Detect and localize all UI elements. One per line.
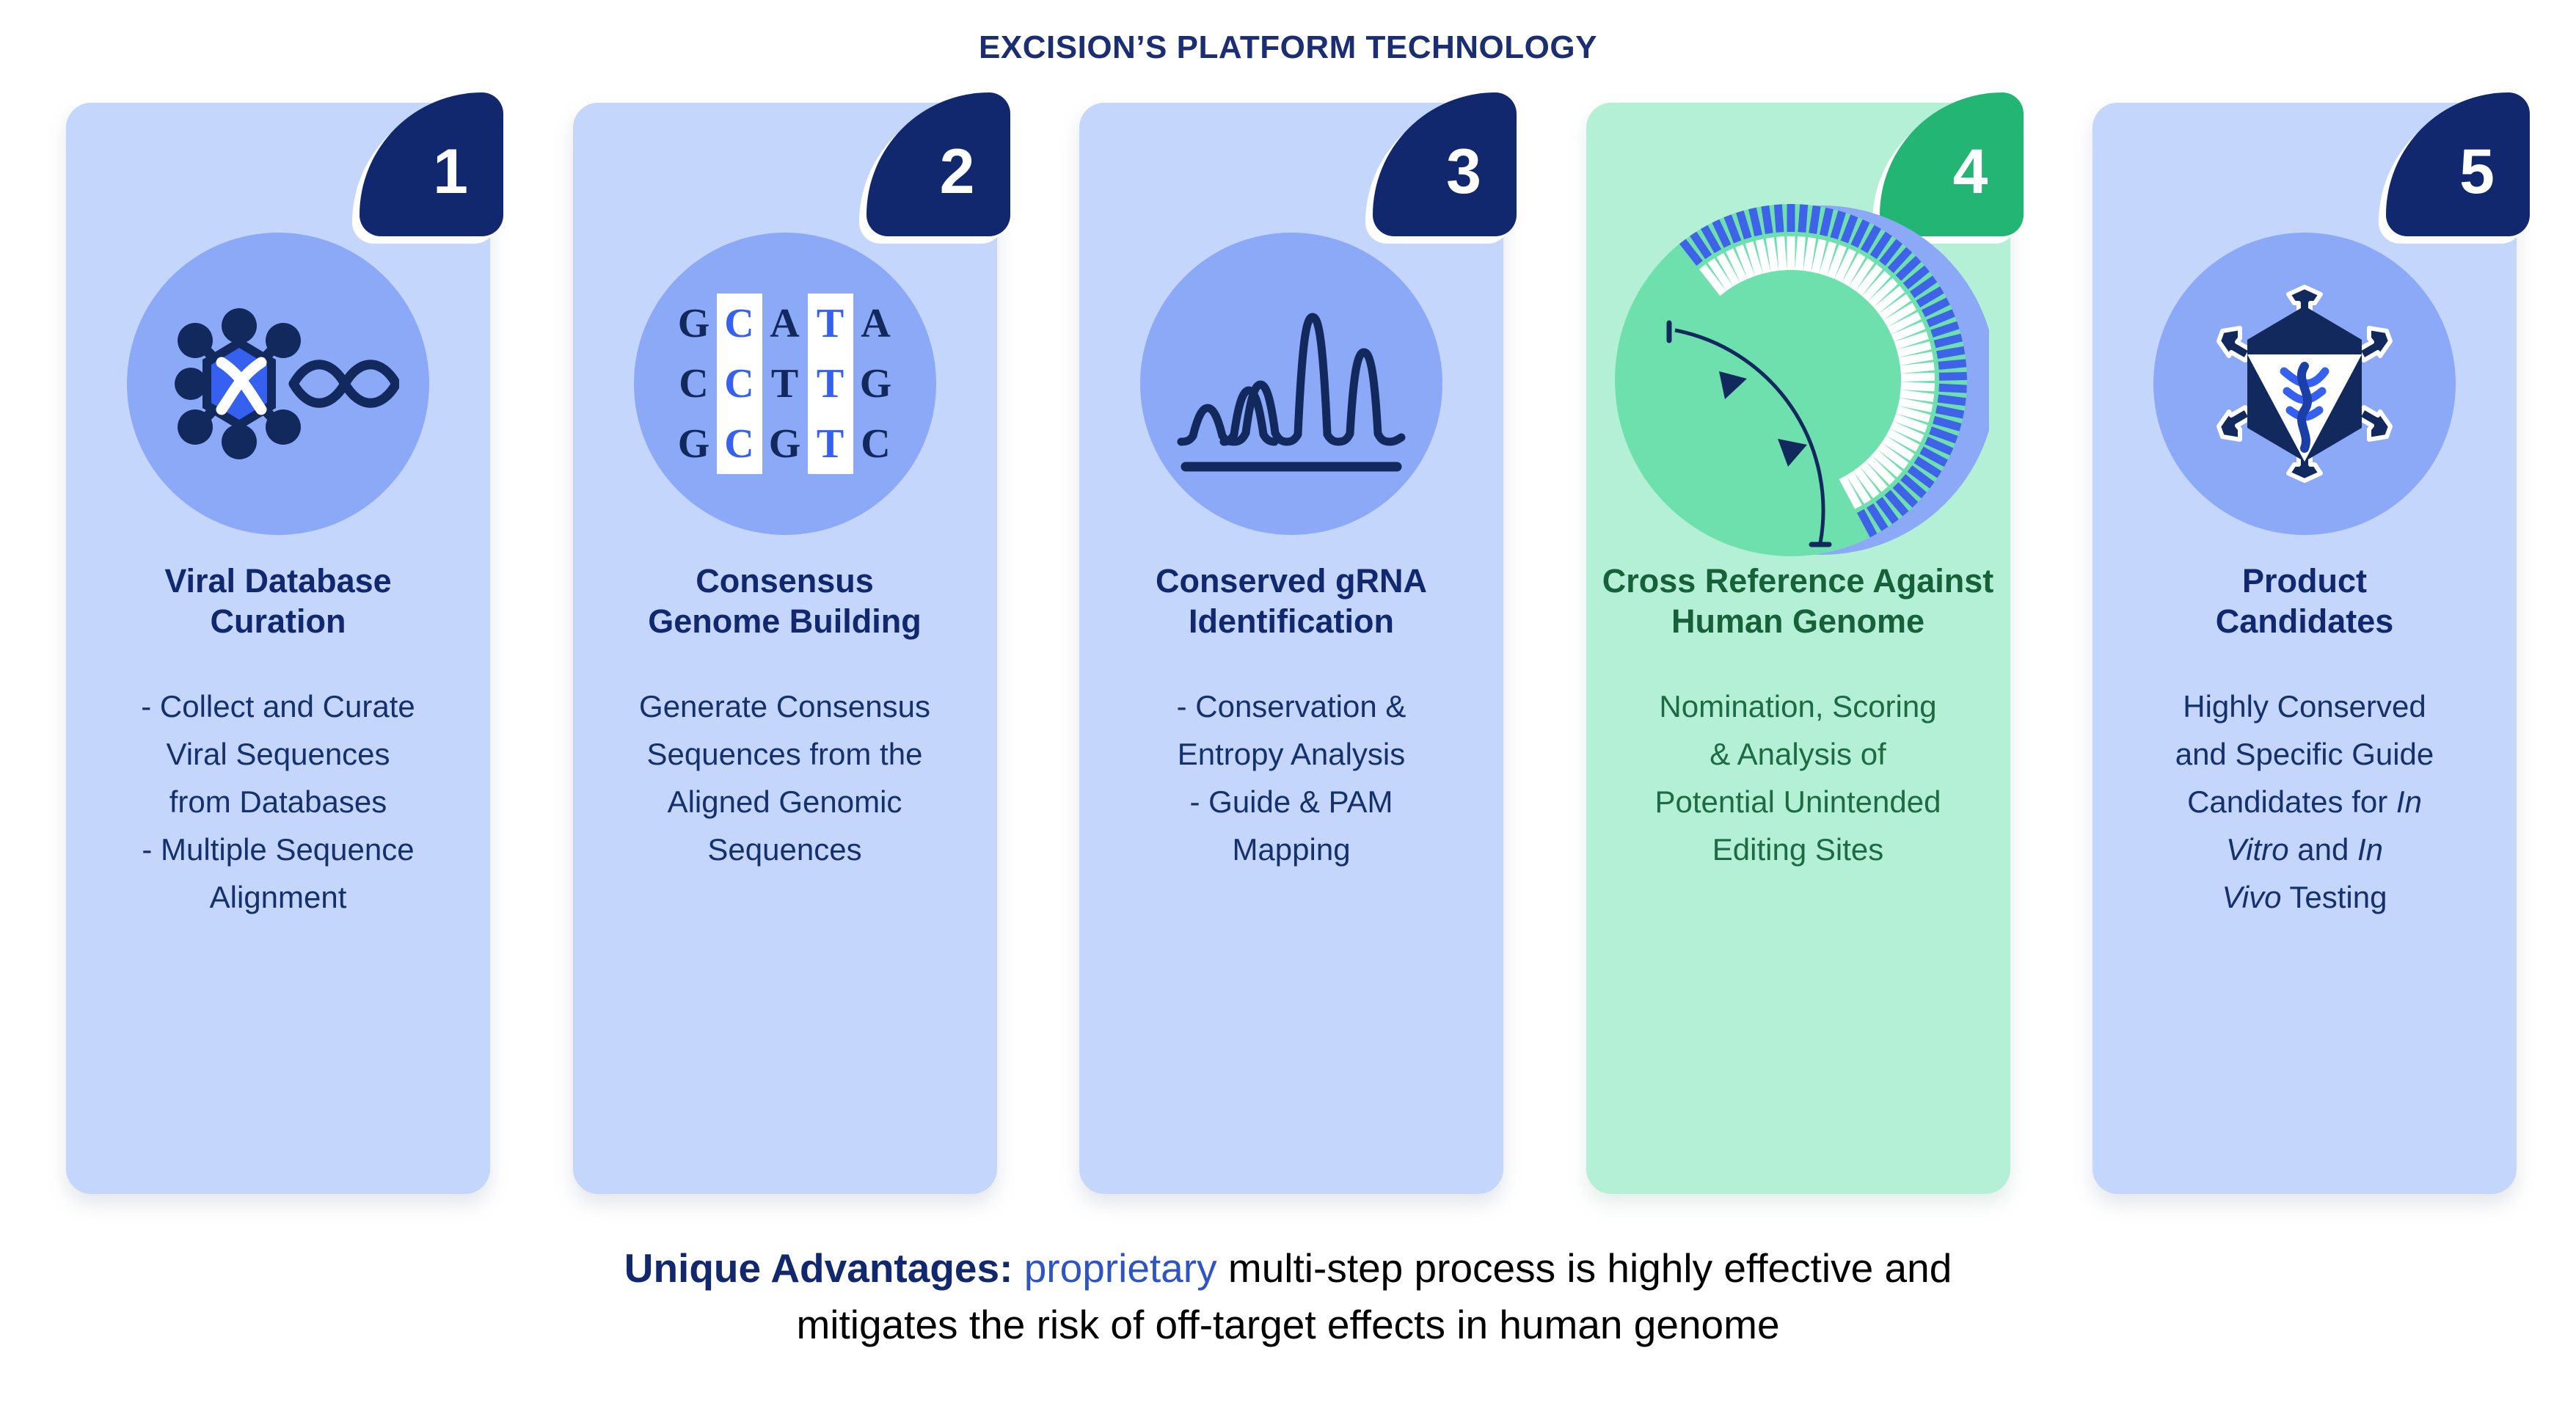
circos-tick xyxy=(1900,385,1934,387)
dna-base-cell: C xyxy=(717,354,762,414)
circos-tick xyxy=(1900,366,1934,370)
circos-tick xyxy=(1938,363,1966,365)
circos-tick xyxy=(1830,197,1836,204)
circos-tick xyxy=(1765,205,1769,233)
circos-tick xyxy=(1924,197,1943,210)
step-number-badge: 1 xyxy=(360,92,503,236)
step-body: - Collect and Curate Viral Sequences fro… xyxy=(85,682,471,921)
step-title: Viral Database Curation xyxy=(82,561,474,642)
circos-tick xyxy=(1700,197,1713,217)
dna-base-cell: G xyxy=(853,354,899,414)
circos-tick xyxy=(1901,376,1935,377)
circos-tick xyxy=(1843,197,1852,208)
circos-tick xyxy=(1639,197,1658,210)
circos-tick xyxy=(1899,355,1932,361)
circos-tick xyxy=(1654,197,1671,201)
italic-term: In xyxy=(2357,832,2383,867)
circos-tick xyxy=(1981,482,1989,497)
step-body: - Conservation & Entropy Analysis - Guid… xyxy=(1098,682,1484,873)
dna-base-cell: C xyxy=(671,354,717,414)
circos-tick xyxy=(1937,350,1964,355)
circos-tick xyxy=(1931,544,1951,564)
circos-tick xyxy=(1759,197,1764,202)
dna-base-cell: G xyxy=(762,414,808,474)
step-number-badge: 2 xyxy=(866,92,1010,236)
step-body: Nomination, Scoring & Analysis of Potent… xyxy=(1605,682,1991,873)
step-card-5[interactable]: 5 xyxy=(2092,103,2517,1194)
circos-tick xyxy=(1943,533,1965,555)
step-card-3[interactable]: 3 Conserved gRNA Identification - Conser… xyxy=(1079,103,1503,1194)
chromatogram-peaks-icon xyxy=(1177,285,1406,483)
step-card-2[interactable]: 2 GCATACCTTGGCGTC Consensus Genome Build… xyxy=(573,103,997,1194)
circos-genome-plot-icon xyxy=(1608,197,1989,567)
circos-tick xyxy=(1801,204,1803,232)
dna-base-cell: C xyxy=(717,414,762,474)
caption: Unique Advantages: proprietary multi-ste… xyxy=(0,1240,2576,1353)
circos-tick xyxy=(1817,197,1822,202)
step-title: Product Candidates xyxy=(2109,561,2500,642)
circos-tick xyxy=(1935,197,1956,220)
dna-base-cell: T xyxy=(808,354,853,414)
caption-line-1: Unique Advantages: proprietary multi-ste… xyxy=(0,1240,2576,1297)
step-card-1[interactable]: 1 xyxy=(66,103,490,1194)
circos-tick xyxy=(1938,376,1966,376)
circos-tick xyxy=(1947,210,1969,231)
step-number-label: 5 xyxy=(2459,140,2495,203)
dna-base-cell: A xyxy=(853,294,899,354)
step-icon-wrap xyxy=(66,226,490,542)
italic-term: Vivo xyxy=(2222,880,2282,914)
circos-tick xyxy=(1780,236,1782,270)
caption-rest: multi-step process is highly effective a… xyxy=(1217,1245,1952,1291)
circos-tick xyxy=(1812,205,1817,233)
step-number-label: 3 xyxy=(1446,140,1481,203)
circos-tick xyxy=(1988,467,1988,480)
virus-dna-icon xyxy=(157,299,399,468)
step-number-label: 2 xyxy=(940,140,975,203)
circos-tick xyxy=(1744,197,1751,204)
dna-base-cell: C xyxy=(717,294,762,354)
circos-tick xyxy=(1936,409,1963,415)
circos-tick xyxy=(1799,236,1801,270)
icon-circle: GCATACCTTGGCGTC xyxy=(634,233,936,535)
caption-accent: proprietary xyxy=(1012,1245,1216,1291)
step-number-badge: 3 xyxy=(1373,92,1517,236)
circos-tick xyxy=(1967,238,1989,255)
circos-tick xyxy=(1900,393,1933,398)
dna-base-cell: C xyxy=(853,414,899,474)
circos-tick xyxy=(1957,224,1982,244)
circos-tick xyxy=(1911,197,1927,201)
italic-term: Vitro xyxy=(2226,832,2289,867)
circos-tick xyxy=(1973,495,1989,512)
page-title: EXCISION’S PLATFORM TECHNOLOGY xyxy=(0,29,2576,66)
step-icon-wrap xyxy=(1586,191,2010,572)
dna-alignment-grid-icon: GCATACCTTGGCGTC xyxy=(671,294,899,474)
italic-term: In xyxy=(2396,784,2422,819)
step-icon-wrap xyxy=(1079,226,1503,542)
dna-base-cell: G xyxy=(671,294,717,354)
step-icon-wrap: GCATACCTTGGCGTC xyxy=(573,226,997,542)
platform-steps-row: 1 xyxy=(66,103,2517,1203)
step-number-label: 1 xyxy=(433,140,468,203)
circos-tick xyxy=(1778,204,1780,232)
circos-tick xyxy=(1673,204,1690,230)
step-icon-wrap xyxy=(2092,226,2517,542)
dna-base-cell: A xyxy=(762,294,808,354)
icon-circle xyxy=(127,233,429,535)
dna-base-cell: T xyxy=(808,294,853,354)
viral-capsid-caduceus-icon xyxy=(2194,274,2415,494)
circos-tick xyxy=(1686,197,1701,223)
circos-tick xyxy=(1938,387,1966,389)
caption-line-2: mitigates the risk of off-target effects… xyxy=(0,1297,2576,1353)
circos-tick xyxy=(1770,238,1775,272)
dna-base-cell: G xyxy=(671,414,717,474)
circos-tick xyxy=(1807,238,1812,272)
circos-tick xyxy=(1804,197,1806,200)
step-body: Highly Conserved and Specific Guide Cand… xyxy=(2112,682,2497,921)
step-body: Generate Consensus Sequences from the Al… xyxy=(592,682,978,873)
circos-tick xyxy=(1660,214,1679,238)
icon-circle xyxy=(2153,233,2456,535)
circos-tick xyxy=(1775,197,1777,200)
circos-tick xyxy=(1976,253,1989,269)
step-number-badge: 5 xyxy=(2386,92,2530,236)
step-title: Consensus Genome Building xyxy=(589,561,981,642)
icon-circle xyxy=(1140,233,1442,535)
caption-lead: Unique Advantages: xyxy=(624,1245,1013,1291)
dna-base-cell: T xyxy=(808,414,853,474)
step-card-4[interactable]: 4 xyxy=(1586,103,2010,1194)
circos-tick xyxy=(1715,197,1726,212)
step-title: Cross Reference Against Human Genome xyxy=(1602,561,1994,642)
dna-base-cell: T xyxy=(762,354,808,414)
circos-tick xyxy=(1729,197,1738,208)
step-title: Conserved gRNA Identification xyxy=(1095,561,1487,642)
circos-tick xyxy=(1963,509,1988,527)
circos-tick xyxy=(1938,398,1966,402)
circos-tick xyxy=(1954,521,1977,541)
circos-tick xyxy=(1983,269,1988,283)
